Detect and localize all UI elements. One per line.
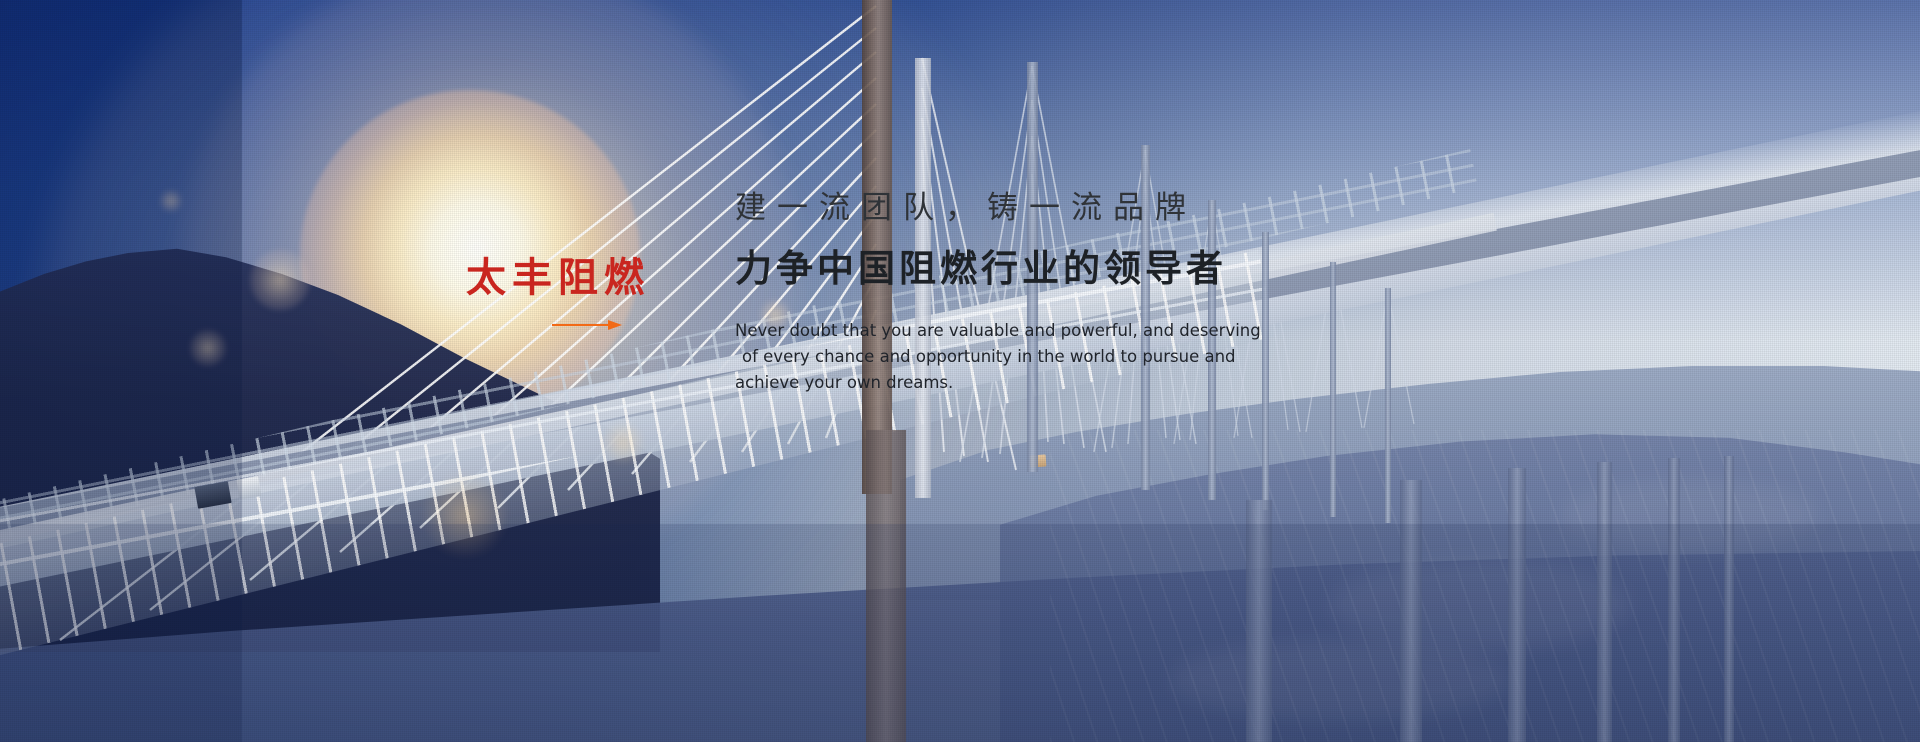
banner-paragraph: Never doubt that you are valuable and po… [735, 318, 1205, 396]
banner-text-block: 建一流团队，铸一流品牌 力争中国阻燃行业的领导者 Never doubt tha… [735, 190, 1435, 396]
paragraph-line-1: Never doubt that you are valuable and po… [735, 318, 1205, 344]
banner-headline: 力争中国阻燃行业的领导者 [735, 247, 1435, 291]
hero-banner: 太丰阻燃 建一流团队，铸一流品牌 力争中国阻燃行业的领导者 Never doub… [0, 0, 1920, 742]
arrow-head [608, 320, 622, 330]
paragraph-line-2: of every chance and opportunity in the w… [735, 344, 1205, 370]
banner-subheadline: 建一流团队，铸一流品牌 [735, 190, 1435, 227]
arrow-shaft [552, 324, 614, 326]
arrow-right-icon [552, 320, 624, 330]
brand-logo[interactable]: 太丰阻燃 [466, 258, 706, 330]
paragraph-line-3: achieve your own dreams. [735, 370, 1205, 396]
brand-logo-text: 太丰阻燃 [466, 258, 706, 298]
banner-content: 太丰阻燃 建一流团队，铸一流品牌 力争中国阻燃行业的领导者 Never doub… [0, 0, 1920, 742]
